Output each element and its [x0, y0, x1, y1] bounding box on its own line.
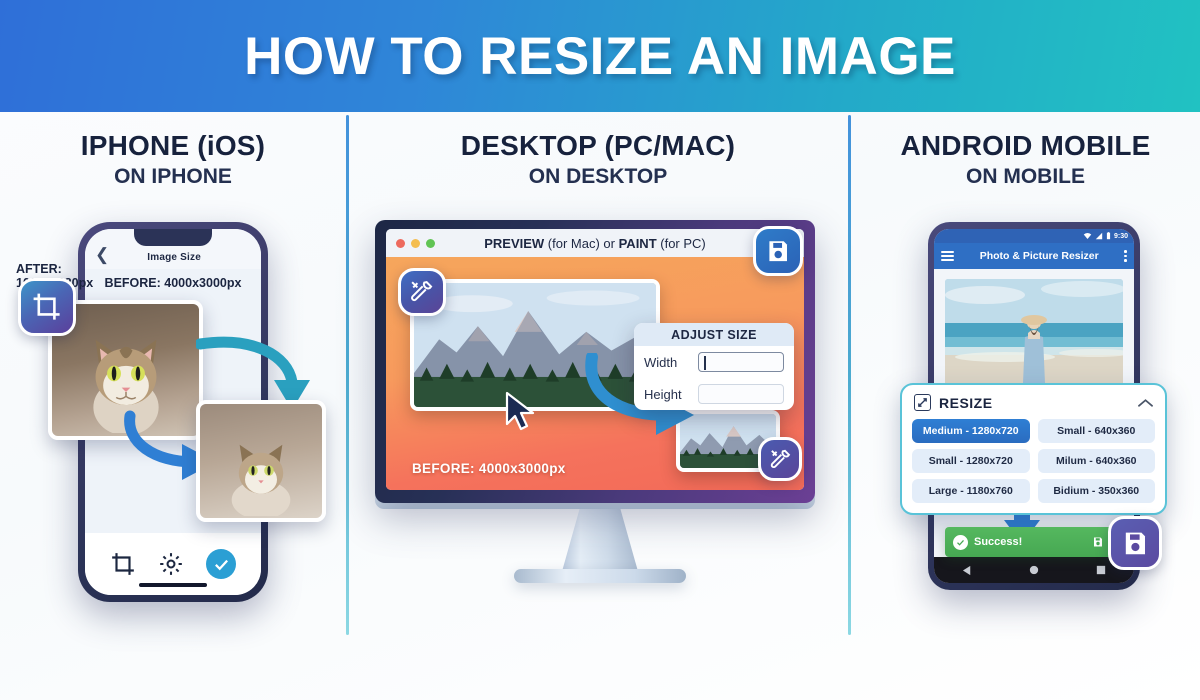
android-nav-bar — [934, 557, 1134, 583]
success-label: Success! — [974, 536, 1086, 548]
ios-before-label: BEFORE: 4000x3000px — [85, 269, 261, 295]
android-app-title: Photo & Picture Resizer — [961, 250, 1117, 262]
iphone-home-indicator — [139, 583, 207, 587]
title-paint: PAINT — [619, 236, 657, 251]
width-input[interactable] — [698, 352, 784, 372]
column-divider-2 — [848, 115, 851, 635]
desktop-before-label: BEFORE: 4000x3000px — [412, 461, 566, 476]
title-preview: PREVIEW — [484, 236, 544, 251]
height-label: Height — [644, 387, 690, 402]
column-title: DESKTOP (PC/MAC) — [349, 130, 847, 162]
column-title: ANDROID MOBILE — [851, 130, 1200, 162]
tools-icon-badge-small[interactable] — [758, 437, 802, 481]
monitor-stand-neck — [561, 503, 639, 575]
resize-option[interactable]: Small - 1280x720 — [912, 449, 1030, 473]
home-icon[interactable] — [1029, 565, 1039, 575]
adjust-size-dialog: ADJUST SIZE Width Height — [634, 323, 794, 410]
mountain-illustration — [414, 283, 656, 407]
resize-option[interactable]: Bidium - 350x360 — [1038, 479, 1156, 503]
tools-icon — [769, 448, 792, 471]
column-subtitle: ON DESKTOP — [349, 165, 847, 189]
cat-illustration — [71, 320, 180, 434]
desktop-monitor-mockup: PREVIEW (for Mac) or PAINT (for PC) — [375, 220, 815, 503]
app-window-title: PREVIEW (for Mac) or PAINT (for PC) — [386, 236, 804, 251]
tools-icon — [409, 279, 434, 304]
resize-panel-title: RESIZE — [939, 395, 1130, 411]
infographic-canvas: HOW TO RESIZE AN IMAGE IPHONE (iOS) ON I… — [0, 0, 1200, 700]
back-icon[interactable] — [962, 565, 973, 576]
crop-icon[interactable] — [110, 551, 136, 577]
chevron-up-icon[interactable] — [1138, 398, 1153, 408]
success-snackbar: Success! — [945, 527, 1112, 557]
cat-illustration — [216, 427, 306, 516]
beach-illustration — [945, 279, 1123, 387]
crop-icon — [31, 291, 62, 322]
gear-icon[interactable] — [158, 551, 184, 577]
column-heading-android: ANDROID MOBILE ON MOBILE — [851, 130, 1200, 189]
column-title: IPHONE (iOS) — [0, 130, 346, 162]
iphone-notch — [134, 229, 212, 246]
check-icon[interactable] — [206, 549, 236, 579]
resize-option[interactable]: Milum - 640x360 — [1038, 449, 1156, 473]
resize-option[interactable]: Medium - 1280x720 — [912, 419, 1030, 443]
check-circle-icon — [953, 535, 968, 550]
beach-photo — [945, 279, 1123, 387]
text-caret — [704, 356, 706, 370]
column-subtitle: ON MOBILE — [851, 165, 1200, 189]
crop-icon-badge[interactable] — [18, 278, 76, 336]
kebab-menu-icon[interactable] — [1124, 250, 1127, 262]
dialog-title: ADJUST SIZE — [634, 323, 794, 346]
height-input[interactable] — [698, 384, 784, 404]
cat-photo-after — [196, 400, 326, 522]
title-mac: (for Mac) or — [544, 236, 618, 251]
resize-option[interactable]: Large - 1180x760 — [912, 479, 1030, 503]
monitor-stand-base — [514, 569, 686, 583]
resize-panel: RESIZE Medium - 1280x720 Small - 640x360… — [900, 383, 1167, 515]
width-label: Width — [644, 355, 690, 370]
ios-nav-title: Image Size — [109, 252, 239, 263]
width-row: Width — [634, 346, 794, 378]
save-floppy-icon — [1121, 529, 1150, 558]
save-floppy-icon[interactable] — [1092, 536, 1104, 548]
app-canvas: BEFORE: 4000x3000px ADJUST SIZE Width He… — [386, 257, 804, 490]
save-floppy-icon — [765, 238, 791, 264]
chevron-left-icon[interactable]: ❮ — [95, 246, 109, 263]
tools-icon-badge[interactable] — [398, 268, 446, 316]
wifi-icon — [1083, 232, 1092, 240]
save-icon-badge-desktop[interactable] — [753, 226, 803, 276]
page-title: HOW TO RESIZE AN IMAGE — [244, 26, 956, 87]
column-divider-1 — [346, 115, 349, 635]
resize-options-grid: Medium - 1280x720 Small - 640x360 Small … — [912, 419, 1155, 503]
android-app-bar: Photo & Picture Resizer — [934, 243, 1134, 269]
resize-panel-header[interactable]: RESIZE — [912, 393, 1155, 419]
hamburger-menu-icon[interactable] — [941, 251, 954, 261]
save-icon-badge-android[interactable] — [1108, 516, 1162, 570]
height-row: Height — [634, 378, 794, 410]
status-time: 9:30 — [1114, 233, 1128, 240]
column-heading-iphone: IPHONE (iOS) ON IPHONE — [0, 130, 346, 189]
resize-option[interactable]: Small - 640x360 — [1038, 419, 1156, 443]
mouse-pointer-icon — [504, 391, 538, 431]
monitor-screen: PREVIEW (for Mac) or PAINT (for PC) — [386, 229, 804, 490]
recents-icon[interactable] — [1096, 565, 1106, 575]
column-subtitle: ON IPHONE — [0, 165, 346, 189]
resize-expand-icon — [914, 394, 931, 411]
android-status-bar: 9:30 — [934, 229, 1134, 243]
title-pc: (for PC) — [657, 236, 706, 251]
battery-icon — [1106, 232, 1111, 240]
header-banner: HOW TO RESIZE AN IMAGE — [0, 0, 1200, 112]
signal-icon — [1095, 232, 1103, 240]
app-window-titlebar: PREVIEW (for Mac) or PAINT (for PC) — [386, 229, 804, 257]
column-heading-desktop: DESKTOP (PC/MAC) ON DESKTOP — [349, 130, 847, 189]
